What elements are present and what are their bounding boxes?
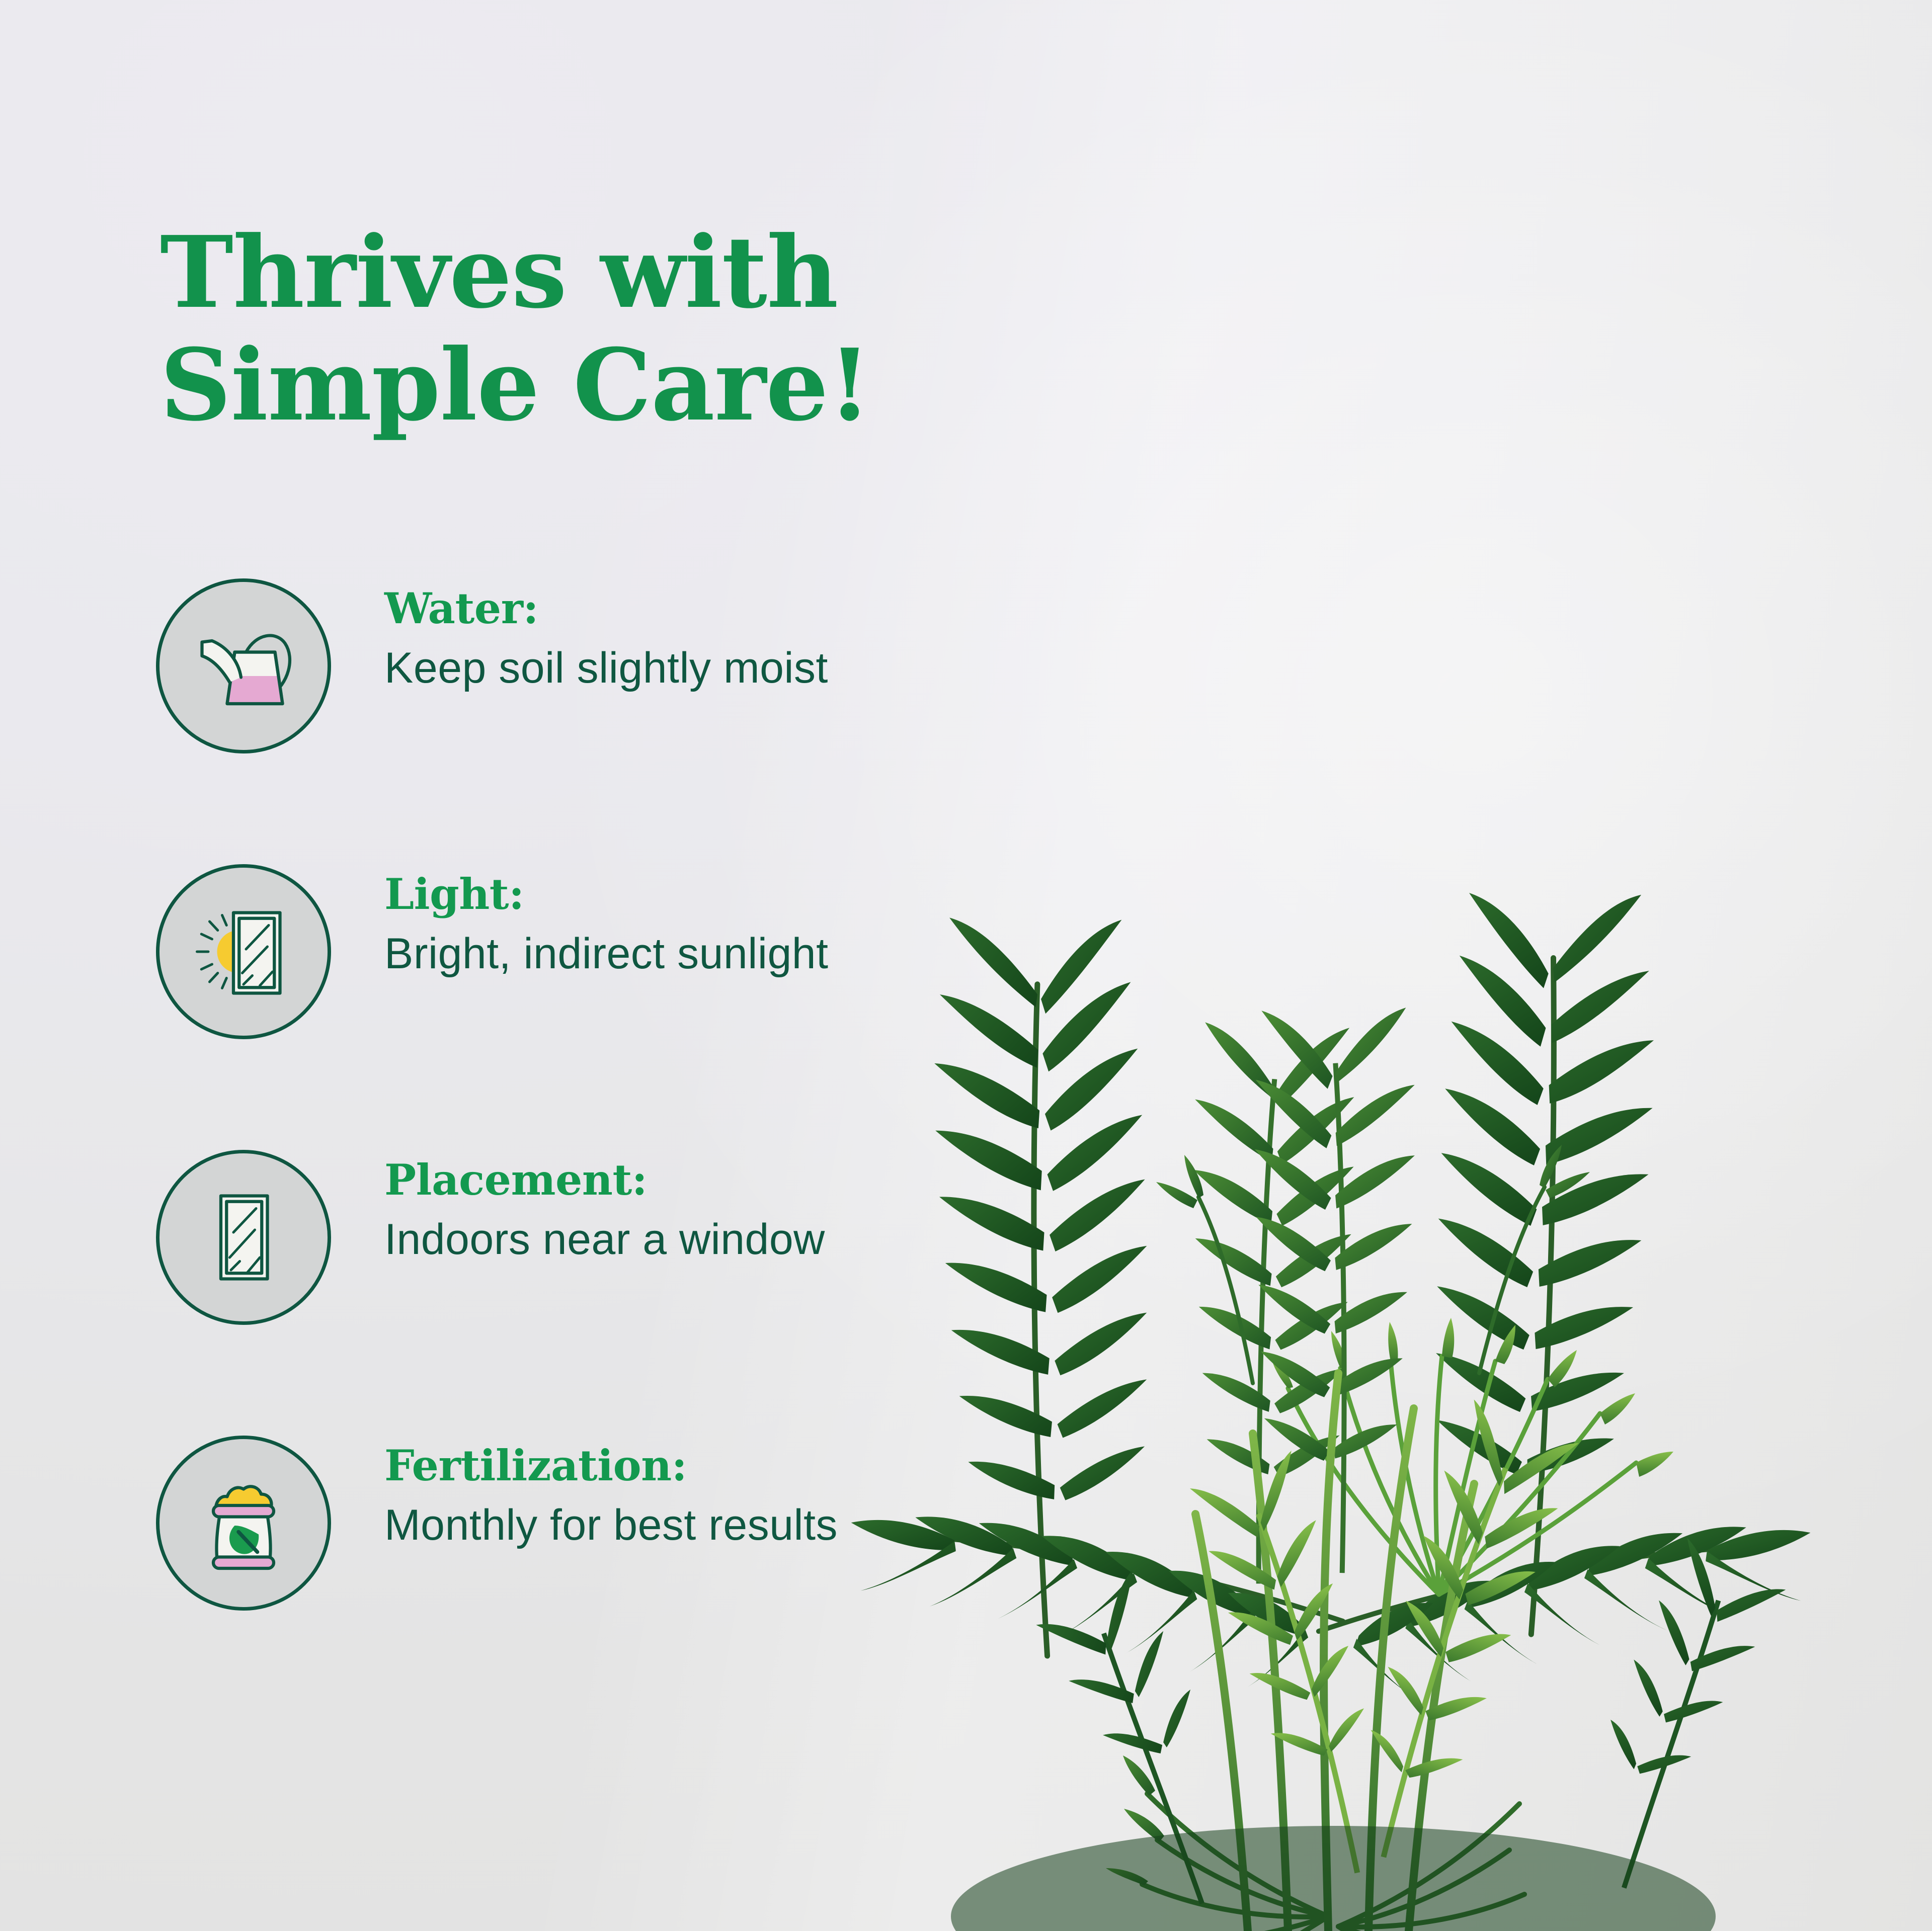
care-item-label: Fertilization: bbox=[384, 1445, 838, 1487]
headline-line-1: Thrives with bbox=[160, 217, 1116, 329]
watering-can-icon bbox=[156, 578, 331, 753]
care-item-description: Monthly for best results bbox=[384, 1499, 838, 1552]
care-item-light: Light: Bright, indirect sunlight bbox=[156, 864, 1036, 1039]
care-item-fertilization: Fertilization: Monthly for best results bbox=[156, 1436, 1036, 1611]
page-title: Thrives with Simple Care! bbox=[160, 217, 1116, 442]
care-item-placement: Placement: Indoors near a window bbox=[156, 1150, 1036, 1325]
care-item-text: Light: Bright, indirect sunlight bbox=[384, 864, 829, 980]
care-item-description: Bright, indirect sunlight bbox=[384, 928, 829, 980]
care-item-description: Keep soil slightly moist bbox=[384, 642, 828, 695]
fertilizer-bag-icon bbox=[156, 1436, 331, 1611]
care-instructions-list: Water: Keep soil slightly moist bbox=[156, 578, 1036, 1611]
care-item-text: Placement: Indoors near a window bbox=[384, 1150, 825, 1266]
window-icon bbox=[156, 1150, 331, 1325]
care-item-label: Light: bbox=[384, 873, 829, 915]
care-item-label: Water: bbox=[384, 587, 828, 630]
care-item-text: Water: Keep soil slightly moist bbox=[384, 578, 828, 695]
sun-window-icon bbox=[156, 864, 331, 1039]
care-item-description: Indoors near a window bbox=[384, 1213, 825, 1266]
headline-line-2: Simple Care! bbox=[160, 329, 1116, 442]
care-item-label: Placement: bbox=[384, 1159, 825, 1201]
care-item-text: Fertilization: Monthly for best results bbox=[384, 1436, 838, 1552]
care-infographic-card: Thrives with Simple Care! bbox=[0, 0, 1932, 1931]
care-item-water: Water: Keep soil slightly moist bbox=[156, 578, 1036, 753]
